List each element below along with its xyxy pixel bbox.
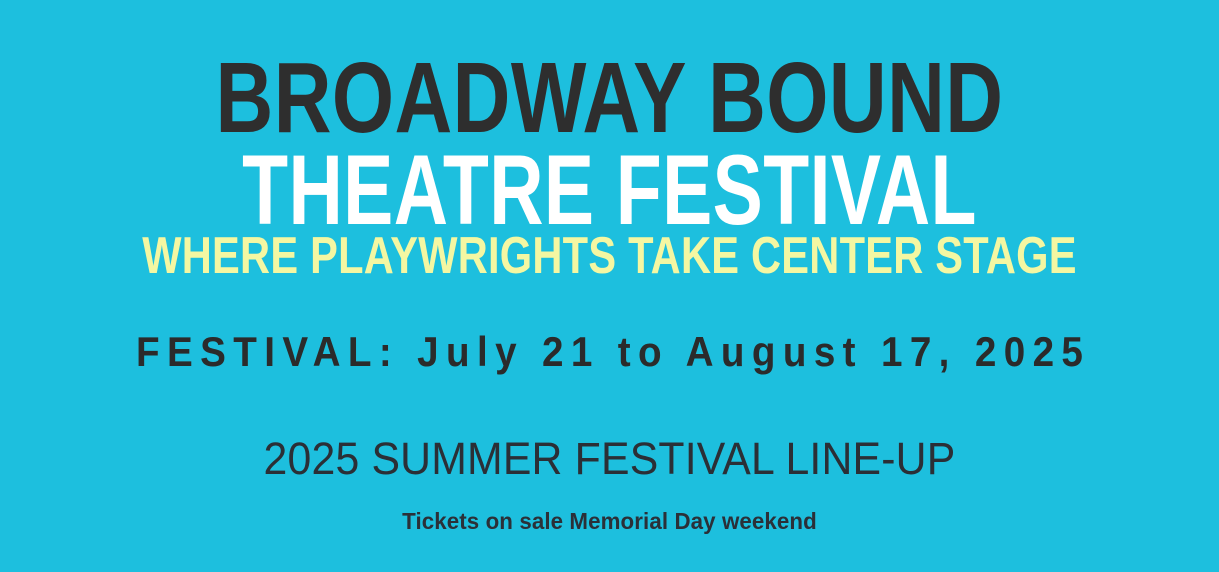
poster-tagline: WHERE PLAYWRIGHTS TAKE CENTER STAGE: [122, 230, 1097, 282]
festival-poster: BROADWAY BOUND THEATRE FESTIVAL WHERE PL…: [0, 0, 1219, 572]
festival-dates: FESTIVAL: July 21 to August 17, 2025: [49, 331, 1170, 373]
poster-title-secondary: THEATRE FESTIVAL: [146, 140, 1072, 239]
lineup-heading: 2025 SUMMER FESTIVAL LINE-UP: [30, 436, 1188, 481]
tickets-on-sale-note: Tickets on sale Memorial Day weekend: [18, 510, 1200, 533]
poster-title-primary: BROADWAY BOUND: [122, 48, 1097, 148]
